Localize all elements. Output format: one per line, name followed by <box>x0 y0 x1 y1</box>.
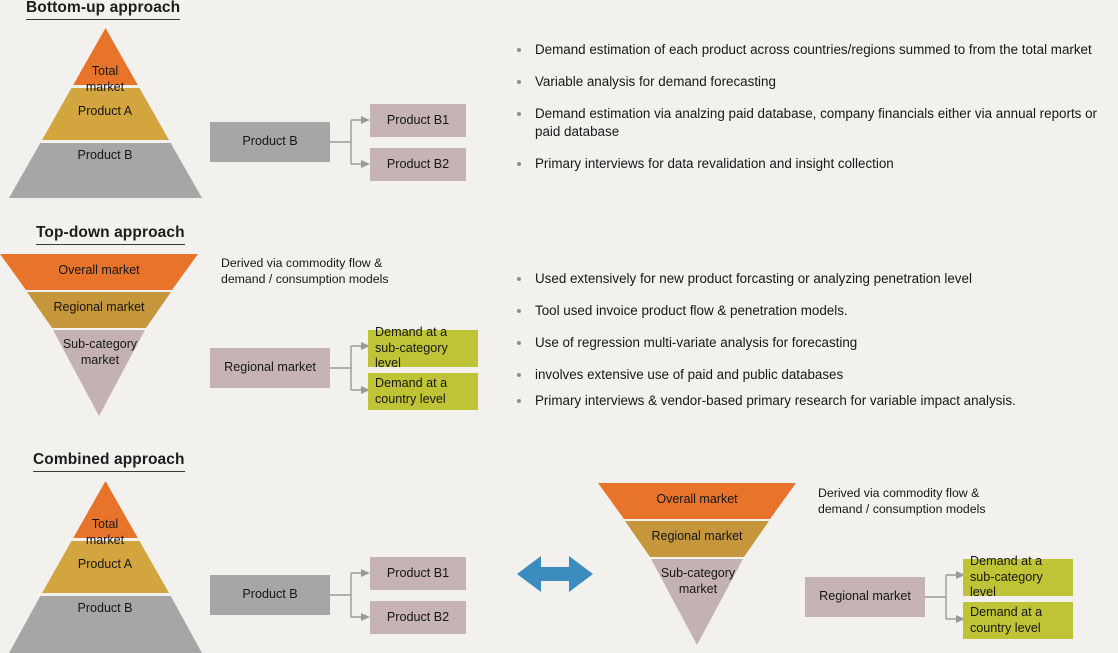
connector-lines <box>925 558 967 636</box>
flow-connector-combined-right <box>925 558 967 641</box>
list-item: Tool used invoice product flow & penetra… <box>517 302 1117 320</box>
connector-lines <box>330 556 372 634</box>
double-arrow-shape <box>517 548 593 600</box>
bullet-text: Used extensively for new product forcast… <box>535 270 972 288</box>
double-headed-horizontal-arrow-icon <box>517 548 593 605</box>
bullet-text: Variable analysis for demand forecasting <box>535 73 776 91</box>
bullet-dot-icon <box>517 80 521 84</box>
pyramid-shape <box>8 28 203 200</box>
flow-target-box-demand-sub-category[interactable]: Demand at a sub-category level <box>368 330 478 367</box>
flow-connector-top-down <box>330 329 372 412</box>
pyramid-bottom-up: Total market Product A Product B <box>8 28 203 200</box>
bullet-dot-icon <box>517 48 521 52</box>
heading-bottom-up: Bottom-up approach <box>26 0 180 20</box>
list-item: Demand estimation of each product across… <box>517 41 1117 59</box>
flow-target-box-demand-country-combined[interactable]: Demand at a country level <box>963 602 1073 639</box>
list-item: Demand estimation via analzing paid data… <box>517 105 1117 141</box>
list-item: Used extensively for new product forcast… <box>517 270 1117 288</box>
note-derived-via-commodity-flow-top-down: Derived via commodity flow & demand / co… <box>221 255 481 287</box>
bullet-dot-icon <box>517 112 521 116</box>
flow-source-box-product-b[interactable]: Product B <box>210 122 330 162</box>
flow-connector-combined-left <box>330 556 372 639</box>
bullet-text: Primary interviews & vendor-based primar… <box>535 392 1016 410</box>
bullet-list-bottom-up: Demand estimation of each product across… <box>517 41 1117 187</box>
flow-target-box-product-b1-combined[interactable]: Product B1 <box>370 557 466 590</box>
bullet-dot-icon <box>517 162 521 166</box>
bullet-dot-icon <box>517 277 521 281</box>
list-item: Use of regression multi-variate analysis… <box>517 334 1117 352</box>
bullet-dot-icon <box>517 309 521 313</box>
flow-target-box-product-b1[interactable]: Product B1 <box>370 104 466 137</box>
bullet-text: Primary interviews for data revalidation… <box>535 155 894 173</box>
pyramid-combined-left: Total market Product A Product B <box>8 481 203 653</box>
flow-source-box-regional-market-combined[interactable]: Regional market <box>805 577 925 617</box>
bullet-text: Use of regression multi-variate analysis… <box>535 334 857 352</box>
heading-combined: Combined approach <box>33 451 185 472</box>
list-item: Primary interviews & vendor-based primar… <box>517 392 1117 410</box>
pyramid-combined-right: Overall market Regional market Sub-categ… <box>598 483 798 653</box>
flow-target-box-product-b2[interactable]: Product B2 <box>370 148 466 181</box>
list-item: involves extensive use of paid and publi… <box>517 366 1117 384</box>
connector-lines <box>330 103 372 181</box>
pyramid-shape <box>598 483 798 653</box>
bullet-text: Tool used invoice product flow & penetra… <box>535 302 848 320</box>
flow-target-box-product-b2-combined[interactable]: Product B2 <box>370 601 466 634</box>
list-item: Primary interviews for data revalidation… <box>517 155 1117 173</box>
pyramid-shape <box>0 254 200 419</box>
flow-source-box-product-b-combined[interactable]: Product B <box>210 575 330 615</box>
bullet-dot-icon <box>517 399 521 403</box>
flow-target-box-demand-country[interactable]: Demand at a country level <box>368 373 478 410</box>
list-item: Variable analysis for demand forecasting <box>517 73 1117 91</box>
bullet-dot-icon <box>517 341 521 345</box>
bullet-text: Demand estimation of each product across… <box>535 41 1092 59</box>
bullet-text: involves extensive use of paid and publi… <box>535 366 843 384</box>
bullet-list-top-down: Used extensively for new product forcast… <box>517 270 1117 424</box>
bullet-text: Demand estimation via analzing paid data… <box>535 105 1111 141</box>
bullet-dot-icon <box>517 373 521 377</box>
note-derived-via-commodity-flow-combined: Derived via commodity flow & demand / co… <box>818 485 1078 517</box>
pyramid-top-down: Overall market Regional market Sub-categ… <box>0 254 200 419</box>
heading-top-down: Top-down approach <box>36 224 185 245</box>
diagram-canvas: Bottom-up approach Total market Product … <box>0 0 1118 653</box>
flow-source-box-regional-market[interactable]: Regional market <box>210 348 330 388</box>
flow-target-box-demand-sub-category-combined[interactable]: Demand at a sub-category level <box>963 559 1073 596</box>
pyramid-shape <box>8 481 203 653</box>
flow-connector-bottom-up <box>330 103 372 186</box>
connector-lines <box>330 329 372 407</box>
